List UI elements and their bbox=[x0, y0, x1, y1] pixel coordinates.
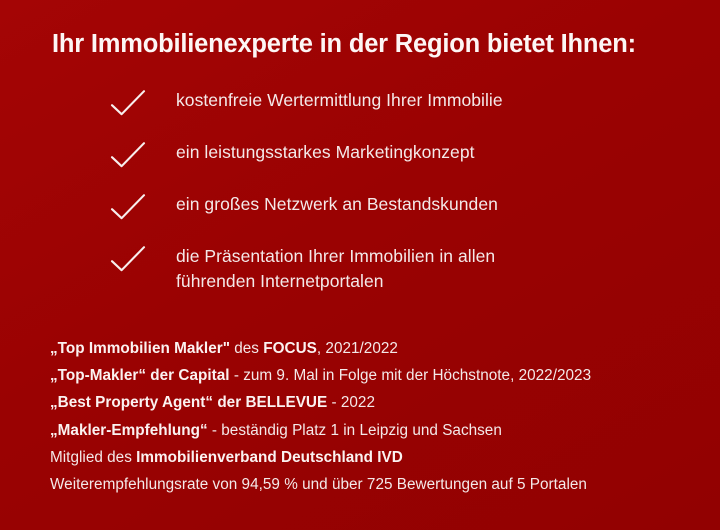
award-text: - beständig Platz 1 in Leipzig und Sachs… bbox=[208, 422, 502, 439]
award-emphasis: „Top-Makler“ der Capital bbox=[50, 367, 230, 384]
check-icon bbox=[110, 142, 154, 172]
promo-slide: Ihr Immobilienexperte in der Region biet… bbox=[0, 0, 720, 530]
award-text: des bbox=[230, 340, 263, 357]
award-line: „Top-Makler“ der Capital - zum 9. Mal in… bbox=[50, 368, 712, 395]
benefit-label: die Präsentation Ihrer Immobilien in all… bbox=[154, 244, 566, 294]
award-text: Weiterempfehlungsrate von 94,59 % und üb… bbox=[50, 476, 587, 493]
award-line: „Top Immobilien Makler" des FOCUS, 2021/… bbox=[50, 341, 712, 368]
award-emphasis: FOCUS bbox=[263, 340, 317, 357]
list-item: ein leistungsstarkes Marketingkonzept bbox=[110, 140, 710, 174]
award-text: Mitglied des bbox=[50, 449, 136, 466]
award-emphasis: „Best Property Agent“ der BELLEVUE bbox=[50, 394, 327, 411]
awards-block: „Top Immobilien Makler" des FOCUS, 2021/… bbox=[50, 341, 712, 504]
benefit-label: ein leistungsstarkes Marketingkonzept bbox=[154, 140, 710, 165]
award-line: „Makler-Empfehlung“ - beständig Platz 1 … bbox=[50, 423, 712, 450]
benefit-list: kostenfreie Wertermittlung Ihrer Immobil… bbox=[110, 88, 710, 312]
list-item: ein großes Netzwerk an Bestandskunden bbox=[110, 192, 710, 226]
list-item: kostenfreie Wertermittlung Ihrer Immobil… bbox=[110, 88, 710, 122]
check-icon bbox=[110, 246, 154, 276]
benefit-label: ein großes Netzwerk an Bestandskunden bbox=[154, 192, 710, 217]
award-text: , 2021/2022 bbox=[317, 340, 398, 357]
check-icon bbox=[110, 90, 154, 120]
benefit-label: kostenfreie Wertermittlung Ihrer Immobil… bbox=[154, 88, 710, 113]
award-line: Weiterempfehlungsrate von 94,59 % und üb… bbox=[50, 477, 712, 504]
award-emphasis: Immobilienverband Deutschland IVD bbox=[136, 449, 403, 466]
award-text: - zum 9. Mal in Folge mit der Höchstnote… bbox=[230, 367, 592, 384]
award-line: Mitglied des Immobilienverband Deutschla… bbox=[50, 450, 712, 477]
award-emphasis: „Top Immobilien Makler" bbox=[50, 340, 230, 357]
page-title: Ihr Immobilienexperte in der Region biet… bbox=[52, 30, 636, 59]
award-emphasis: „Makler-Empfehlung“ bbox=[50, 422, 208, 439]
award-line: „Best Property Agent“ der BELLEVUE - 202… bbox=[50, 395, 712, 422]
check-icon bbox=[110, 194, 154, 224]
award-text: - 2022 bbox=[327, 394, 375, 411]
list-item: die Präsentation Ihrer Immobilien in all… bbox=[110, 244, 710, 294]
